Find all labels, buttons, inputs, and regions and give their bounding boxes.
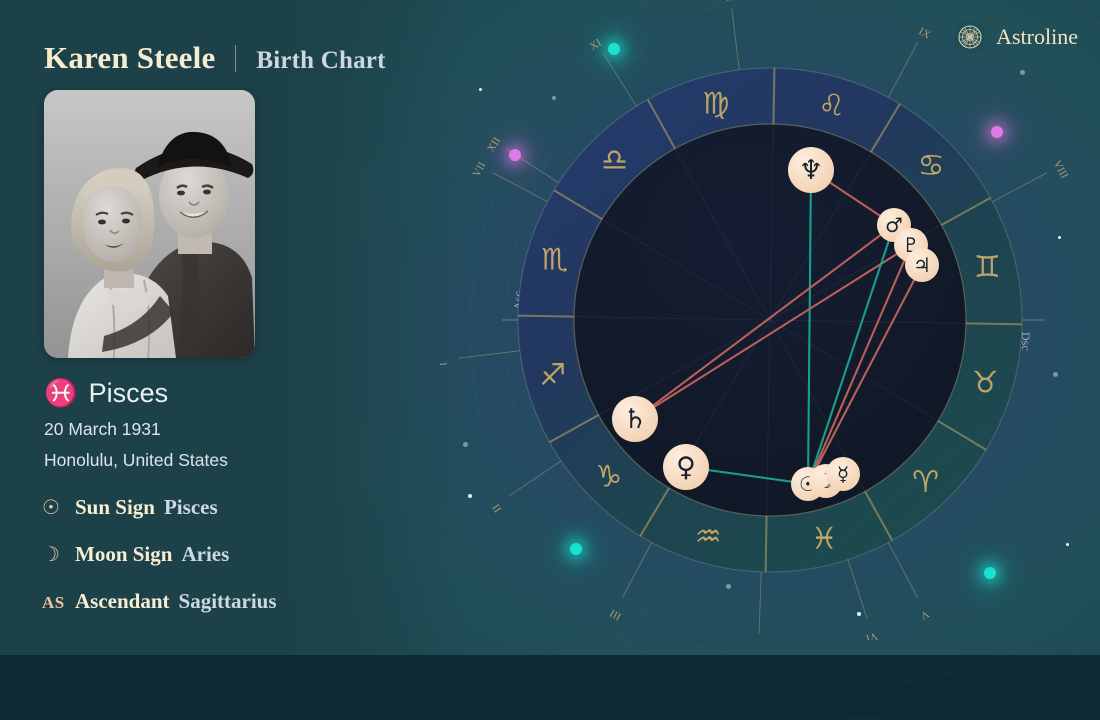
page-title: Karen Steele Birth Chart bbox=[44, 40, 386, 76]
left-info-panel: Karen Steele Birth Chart bbox=[0, 0, 470, 655]
zodiac-glyph-leo: ♌ bbox=[818, 89, 845, 124]
house-label-xii: XII bbox=[485, 135, 504, 155]
sun-sign-value: Pisces bbox=[164, 495, 218, 520]
summary-row-sun-sign: ☉ Sun Sign Pisces bbox=[42, 495, 218, 520]
page-subtitle: Birth Chart bbox=[256, 47, 385, 74]
house-label-ii: II bbox=[490, 501, 504, 514]
house-label-v: V bbox=[918, 607, 931, 621]
ascendant-value: Sagittarius bbox=[179, 589, 277, 614]
planet-glyph-neptune: ♆ bbox=[799, 155, 823, 186]
house-label-vi: VI bbox=[864, 629, 879, 640]
summary-row-ascendant: AS Ascendant Sagittarius bbox=[42, 589, 277, 614]
birth-chart-wheel[interactable]: Asc Dsc IIIIIIIVVVIVIIVIIIIXXXIXII ♍♌♋♊♉… bbox=[440, 0, 1100, 640]
planet-marker-jupiter[interactable]: ♃ bbox=[905, 248, 939, 282]
brand-logo[interactable]: Astroline bbox=[955, 22, 1078, 52]
house-label-viii: VIII bbox=[1051, 158, 1071, 181]
planet-marker-mercury[interactable]: ☿ bbox=[826, 457, 860, 491]
house-label-xi: XI bbox=[588, 37, 604, 54]
house-label-iii: III bbox=[608, 606, 624, 622]
person-name: Karen Steele bbox=[44, 40, 215, 75]
zodiac-glyph-aries: ♈ bbox=[912, 465, 939, 500]
portrait-photo bbox=[44, 90, 255, 358]
planet-glyph-mercury: ☿ bbox=[837, 462, 849, 486]
planet-glyph-jupiter: ♃ bbox=[913, 253, 931, 277]
house-label-ix: IX bbox=[917, 25, 933, 41]
sun-sign-label: Sun Sign bbox=[75, 495, 155, 520]
house-label-x: X bbox=[725, 0, 734, 4]
zodiac-glyph-libra: ♎ bbox=[601, 143, 628, 178]
zodiac-glyph-scorpio: ♏ bbox=[541, 242, 568, 277]
birth-date: 20 March 1931 bbox=[44, 419, 161, 440]
house-label-vii: VII bbox=[471, 160, 489, 179]
moon-sign-value: Aries bbox=[181, 542, 229, 567]
birth-place: Honolulu, United States bbox=[44, 450, 228, 471]
pisces-glyph-icon: ♓ bbox=[44, 380, 78, 407]
title-divider bbox=[235, 45, 236, 72]
zodiac-glyph-taurus: ♉ bbox=[972, 366, 999, 401]
sun-sign-headline: ♓ Pisces bbox=[44, 378, 168, 409]
zodiac-wheel-icon bbox=[955, 22, 985, 52]
zodiac-glyph-capricorn: ♑ bbox=[595, 460, 622, 495]
zodiac-glyph-gemini: ♊ bbox=[974, 250, 1001, 285]
brand-name: Astroline bbox=[996, 24, 1078, 50]
planet-glyph-venus: ♀ bbox=[676, 452, 696, 483]
sun-sign-name: Pisces bbox=[89, 378, 169, 409]
ascendant-label: Ascendant bbox=[75, 589, 170, 614]
planet-glyph-saturn: ♄ bbox=[623, 404, 647, 435]
zodiac-glyph-aquarius: ♒ bbox=[695, 519, 722, 554]
zodiac-glyph-cancer: ♋ bbox=[918, 148, 945, 183]
zodiac-glyph-virgo: ♍ bbox=[702, 87, 729, 122]
sun-icon: ☉ bbox=[42, 495, 66, 520]
moon-sign-label: Moon Sign bbox=[75, 542, 172, 567]
ascendant-icon: AS bbox=[42, 593, 66, 613]
moon-icon: ☽ bbox=[42, 542, 66, 567]
summary-row-moon-sign: ☽ Moon Sign Aries bbox=[42, 542, 229, 567]
zodiac-glyph-sagittarius: ♐ bbox=[539, 358, 566, 393]
planet-marker-neptune[interactable]: ♆ bbox=[788, 147, 834, 193]
planet-marker-venus[interactable]: ♀ bbox=[663, 444, 709, 490]
zodiac-glyph-pisces: ♓ bbox=[811, 521, 838, 556]
planet-marker-saturn[interactable]: ♄ bbox=[612, 396, 658, 442]
